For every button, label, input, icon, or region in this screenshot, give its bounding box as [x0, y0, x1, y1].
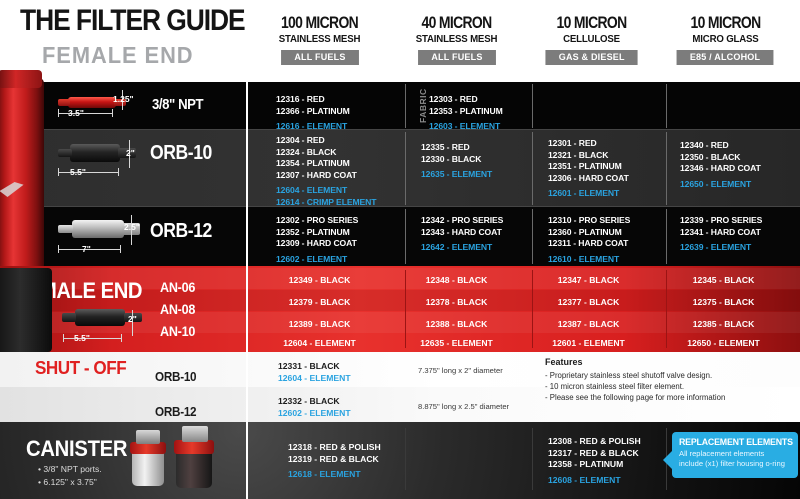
row-label-npt: 3/8" NPT	[152, 96, 203, 113]
cell-orb12-100micron: 12302 - PRO SERIES 12352 - PLATINUM 1230…	[276, 215, 358, 265]
male-cell: 12348 - BLACK	[389, 275, 524, 285]
cell-orb10-10micron-cellulose: 12301 - RED 12321 - BLACK 12351 - PLATIN…	[548, 138, 629, 200]
column-fuel-badge: E85 / ALCOHOL	[677, 50, 774, 65]
column-divider	[666, 209, 667, 264]
row-divider	[0, 129, 800, 130]
column-micron-label: 10 MICRON	[536, 14, 647, 32]
male-size-an10: AN-10	[160, 323, 195, 339]
dimension-length: 3.5"	[68, 108, 84, 118]
cell-orb10-40micron: 12335 - RED 12330 - BLACK 12635 - ELEMEN…	[421, 142, 492, 181]
column-divider	[532, 84, 533, 128]
male-cell: 12379 - BLACK	[252, 297, 387, 307]
male-cell: 12377 - BLACK	[521, 297, 656, 307]
column-media-label: MICRO GLASS	[663, 33, 787, 46]
dimension-tick	[63, 334, 64, 342]
shutoff-label-orb12: ORB-12	[155, 404, 196, 419]
dimension-diameter: 2.5"	[124, 222, 140, 232]
cell-orb10-100micron: 12304 - RED 12324 - BLACK 12354 - PLATIN…	[276, 135, 376, 209]
female-end-section: FABRIC 3.5" 1.25" 3/8" NPT 12316 - RED 1…	[0, 82, 800, 266]
dimension-diameter: 2"	[128, 314, 137, 324]
filter-guide-page: THE FILTER GUIDE FEMALE END 100 MICRON S…	[0, 0, 800, 499]
column-divider-left	[246, 266, 248, 352]
dimension-length: 5.5"	[74, 333, 90, 343]
male-cell: 12378 - BLACK	[389, 297, 524, 307]
cell-orb12-10micron-microglass: 12339 - PRO SERIES 12341 - HARD COAT 126…	[680, 215, 762, 254]
male-size-an06: AN-06	[160, 279, 195, 295]
column-divider-left	[246, 82, 248, 266]
dimension-tick	[58, 109, 59, 117]
column-fuel-badge: GAS & DIESEL	[545, 50, 638, 65]
dimension-tick	[120, 245, 121, 253]
feature-item: - 10 micron stainless steel filter eleme…	[545, 381, 725, 392]
replacement-elements-badge: REPLACEMENT ELEMENTS All replacement ele…	[672, 432, 798, 478]
canister-bullet: • 3/8" NPT ports.	[38, 464, 102, 474]
column-divider	[666, 132, 667, 205]
column-divider	[532, 428, 533, 490]
dimension-diameter: 1.25"	[113, 94, 134, 104]
male-element: 12635 - ELEMENT	[389, 338, 524, 348]
dimension-tick	[112, 109, 113, 117]
male-cell: 12388 - BLACK	[389, 319, 524, 329]
male-size-an08: AN-08	[160, 301, 195, 317]
shutoff-label-orb10: ORB-10	[155, 369, 196, 384]
feature-item: - Please see the following page for more…	[545, 392, 725, 403]
cell-npt-40micron: 12303 - RED 12353 - PLATINUM 12603 - ELE…	[429, 94, 503, 133]
male-cell: 12375 - BLACK	[656, 297, 791, 307]
column-divider	[405, 428, 406, 490]
shutoff-parts-orb10: 12331 - BLACK 12604 - ELEMENT	[278, 361, 351, 384]
male-cell: 12345 - BLACK	[656, 275, 791, 285]
product-image-orb10	[58, 140, 136, 166]
column-header-100-micron: 100 MICRON STAINLESS MESH ALL FUELS	[252, 14, 387, 65]
column-fuel-badge: ALL FUELS	[418, 50, 496, 65]
column-header-10-micron-cellulose: 10 MICRON CELLULOSE GAS & DIESEL	[524, 14, 659, 65]
header: THE FILTER GUIDE FEMALE END 100 MICRON S…	[0, 0, 800, 82]
column-fuel-badge: ALL FUELS	[281, 50, 359, 65]
male-element: 12604 - ELEMENT	[252, 338, 387, 348]
row-label-orb10: ORB-10	[150, 142, 212, 165]
row-divider	[0, 206, 800, 207]
dimension-line	[58, 172, 118, 173]
feature-item: - Proprietary stainless steel shutoff va…	[545, 370, 725, 381]
column-divider-left-lower	[246, 352, 248, 499]
column-media-label: CELLULOSE	[529, 33, 653, 46]
column-header-40-micron: 40 MICRON STAINLESS MESH ALL FUELS	[389, 14, 524, 65]
dimension-diameter: 2"	[126, 148, 135, 158]
male-element: 12601 - ELEMENT	[521, 338, 656, 348]
row-label-orb12: ORB-12	[150, 220, 212, 243]
dimension-length: 5.5"	[70, 167, 86, 177]
column-divider	[532, 132, 533, 205]
dimension-tick	[58, 168, 59, 176]
badge-line: include (x1) filter housing o-ring	[679, 459, 792, 469]
dimension-tick	[118, 168, 119, 176]
male-cell: 12389 - BLACK	[252, 319, 387, 329]
page-title: THE FILTER GUIDE	[20, 6, 245, 36]
canister-bullet: • 6.125" x 3.75"	[38, 477, 97, 487]
badge-line: All replacement elements	[679, 449, 792, 459]
canister-cell-100micron: 12318 - RED & POLISH 12319 - RED & BLACK…	[288, 442, 381, 481]
badge-title: REPLACEMENT ELEMENTS	[679, 437, 787, 447]
product-image-canister-black	[172, 426, 216, 488]
male-cell: 12347 - BLACK	[521, 275, 656, 285]
canister-cell-cellulose: 12308 - RED & POLISH 12317 - RED & BLACK…	[548, 436, 641, 486]
column-header-10-micron-micro-glass: 10 MICRON MICRO GLASS E85 / ALCOHOL	[658, 14, 793, 65]
cell-orb12-40micron: 12342 - PRO SERIES 12343 - HARD COAT 126…	[421, 215, 503, 254]
dimension-tick	[121, 334, 122, 342]
shutoff-dimension-orb12: 8.875" long x 2.5" diameter	[418, 402, 509, 411]
column-divider	[666, 84, 667, 128]
features-block: Features - Proprietary stainless steel s…	[545, 357, 725, 403]
male-element: 12650 - ELEMENT	[656, 338, 791, 348]
male-end-title: MALE END	[40, 278, 142, 304]
dimension-line	[63, 338, 121, 339]
column-micron-label: 40 MICRON	[401, 14, 512, 32]
column-media-label: STAINLESS MESH	[257, 33, 381, 46]
large-red-filter-image	[0, 78, 44, 268]
male-cell: 12387 - BLACK	[521, 319, 656, 329]
product-image-canister-silver	[128, 430, 168, 486]
canister-title: CANISTER	[26, 436, 127, 462]
fabric-tag: FABRIC	[418, 88, 428, 123]
dimension-tick	[58, 245, 59, 253]
features-title: Features	[545, 357, 725, 367]
male-end-section: MALE END AN-06 AN-08 AN-10 12349 - BLACK…	[0, 266, 800, 352]
cell-orb12-10micron-cellulose: 12310 - PRO SERIES 12360 - PLATINUM 1231…	[548, 215, 630, 265]
column-micron-label: 10 MICRON	[670, 14, 781, 32]
cell-npt-100micron: 12316 - RED 12366 - PLATINUM 12616 - ELE…	[276, 94, 350, 133]
column-divider	[405, 209, 406, 264]
features-list: - Proprietary stainless steel shutoff va…	[545, 370, 725, 403]
column-media-label: STAINLESS MESH	[394, 33, 518, 46]
column-micron-label: 100 MICRON	[264, 14, 375, 32]
column-divider	[405, 132, 406, 205]
column-divider	[405, 84, 406, 128]
dimension-line	[58, 113, 112, 114]
title-block: THE FILTER GUIDE FEMALE END	[20, 6, 275, 69]
page-subtitle: FEMALE END	[42, 42, 264, 69]
male-cell: 12385 - BLACK	[656, 319, 791, 329]
dimension-length: 7"	[82, 244, 91, 254]
cell-orb10-10micron-microglass: 12340 - RED 12350 - BLACK 12346 - HARD C…	[680, 140, 761, 190]
column-divider	[532, 209, 533, 264]
shutoff-dimension-orb10: 7.375" long x 2" diameter	[418, 366, 503, 375]
shutoff-parts-orb12: 12332 - BLACK 12602 - ELEMENT	[278, 396, 351, 419]
male-end-filter-image	[0, 268, 52, 352]
shutoff-section: SHUT - OFF ORB-10 ORB-12 12331 - BLACK 1…	[0, 352, 800, 422]
male-cell: 12349 - BLACK	[252, 275, 387, 285]
shutoff-title: SHUT - OFF	[35, 358, 126, 379]
